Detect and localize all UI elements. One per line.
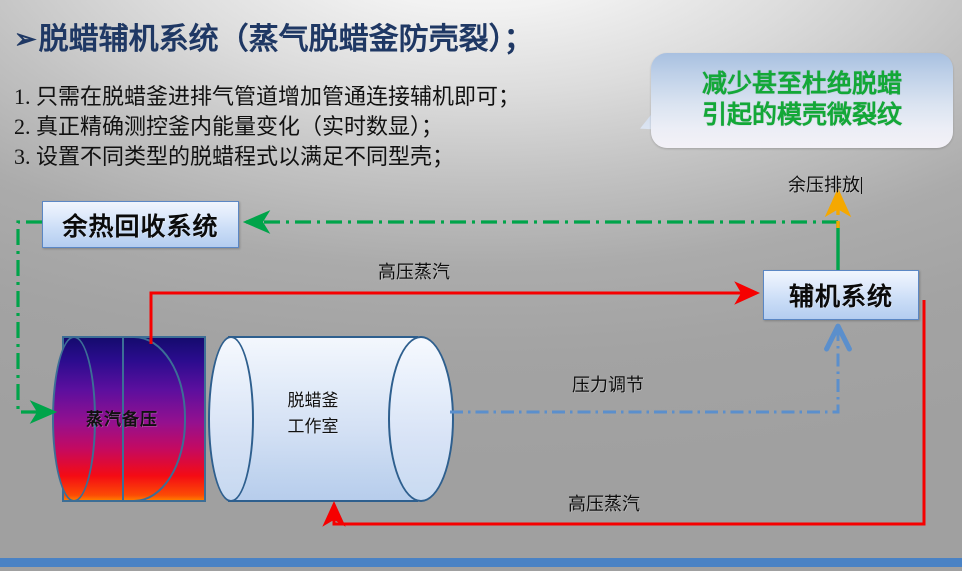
label-residual-vent-text: 余压排放 — [788, 175, 860, 195]
label-hp-steam-top: 高压蒸汽 — [378, 258, 450, 284]
label-hp-steam-bottom: 高压蒸汽 — [568, 490, 640, 516]
pipe-network — [0, 0, 962, 571]
label-residual-vent: 余压排放 — [788, 171, 862, 197]
label-pressure-regulate: 压力调节 — [572, 371, 644, 397]
pipe-recovered-heat-feed — [18, 222, 54, 412]
slide-canvas: ➢脱蜡辅机系统（蒸气脱蜡釜防壳裂）； 1. 只需在脱蜡釜进排气管道增加管通连接辅… — [0, 0, 962, 571]
pipe-hp-steam-top — [151, 293, 757, 344]
text-cursor-icon — [861, 177, 862, 194]
footer-bar — [0, 558, 962, 567]
pipe-pressure-regulation — [450, 328, 838, 412]
